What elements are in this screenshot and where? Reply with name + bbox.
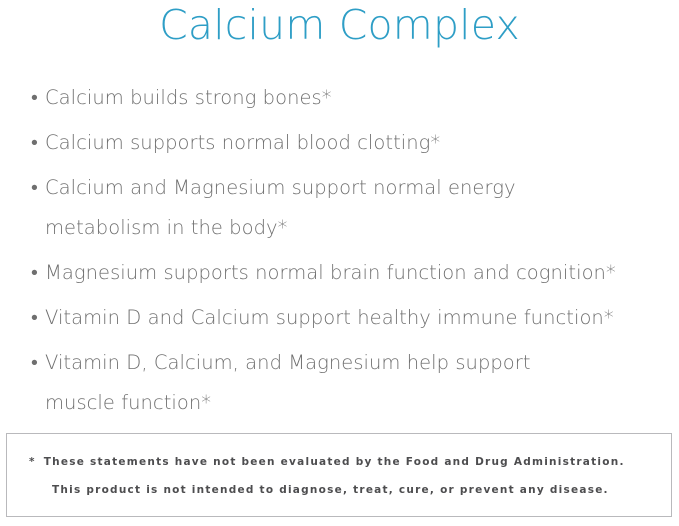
product-benefits-panel: Calcium Complex • Calcium builds strong … xyxy=(0,0,679,526)
list-item-line: Calcium supports normal blood clotting* xyxy=(45,123,669,163)
list-item-line: metabolism in the body* xyxy=(45,208,669,248)
disclaimer-line-1: *These statements have not been evaluate… xyxy=(29,456,625,468)
list-item: • Magnesium supports normal brain functi… xyxy=(29,253,669,293)
bullet-icon: • xyxy=(31,168,38,208)
list-item: • Calcium builds strong bones* xyxy=(29,78,669,118)
bullet-icon: • xyxy=(31,123,38,163)
disclaimer-text-1: These statements have not been evaluated… xyxy=(44,456,625,468)
list-item: • Vitamin D, Calcium, and Magnesium help… xyxy=(29,343,669,423)
list-item-line: muscle function* xyxy=(45,383,669,423)
list-item: • Calcium supports normal blood clotting… xyxy=(29,123,669,163)
list-item-line: Magnesium supports normal brain function… xyxy=(45,253,669,293)
bullet-icon: • xyxy=(31,298,38,338)
bullet-icon: • xyxy=(31,253,38,293)
list-item-line: Calcium and Magnesium support normal ene… xyxy=(45,168,669,208)
list-item-line: Vitamin D and Calcium support healthy im… xyxy=(45,298,669,338)
fda-disclaimer-box: *These statements have not been evaluate… xyxy=(6,433,672,517)
list-item-line: Vitamin D, Calcium, and Magnesium help s… xyxy=(45,343,669,383)
benefits-list: • Calcium builds strong bones* • Calcium… xyxy=(29,78,669,428)
bullet-icon: • xyxy=(31,78,38,118)
page-title: Calcium Complex xyxy=(0,0,679,50)
list-item: • Vitamin D and Calcium support healthy … xyxy=(29,298,669,338)
list-item: • Calcium and Magnesium support normal e… xyxy=(29,168,669,248)
asterisk-icon: * xyxy=(29,456,36,468)
bullet-icon: • xyxy=(31,343,38,383)
disclaimer-line-2: This product is not intended to diagnose… xyxy=(52,484,609,496)
list-item-line: Calcium builds strong bones* xyxy=(45,78,669,118)
